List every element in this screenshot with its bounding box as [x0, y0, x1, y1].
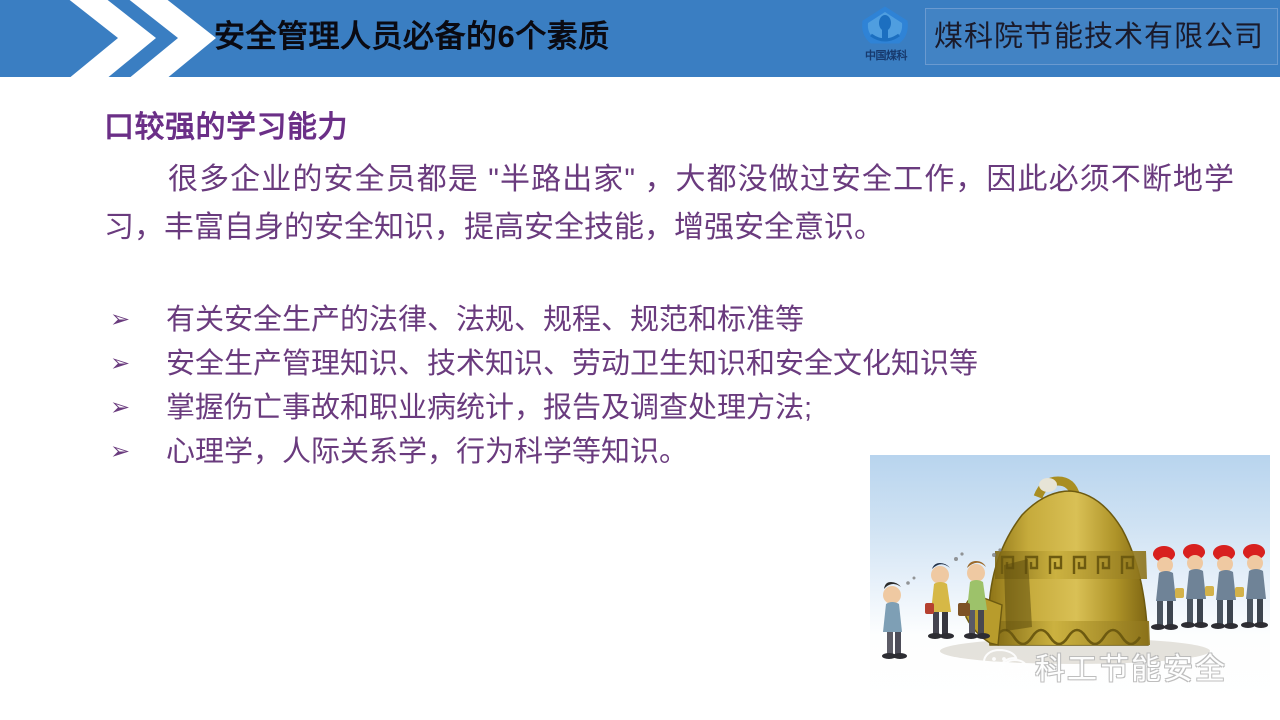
company-name: 煤科院节能技术有限公司	[934, 17, 1264, 57]
page-title: 安全管理人员必备的6个素质	[214, 11, 610, 63]
slide-body: 口较强的学习能力 很多企业的安全员都是 "半路出家" ，大都没做过安全工作，因此…	[0, 77, 1280, 720]
arrow-bullet-icon: ➢	[110, 298, 130, 342]
double-chevron-right-icon	[48, 0, 218, 77]
company-name-box: 煤科院节能技术有限公司	[925, 8, 1278, 65]
list-item: ➢ 有关安全生产的法律、法规、规程、规范和标准等	[104, 298, 1244, 342]
company-logo: 中国煤科	[855, 5, 917, 69]
list-item: ➢ 安全生产管理知识、技术知识、劳动卫生知识和安全文化知识等	[104, 342, 1244, 386]
list-item-label: 有关安全生产的法律、法规、规程、规范和标准等	[166, 304, 804, 336]
watermark: 科工节能安全	[982, 645, 1227, 687]
body-paragraph: 很多企业的安全员都是 "半路出家" ，大都没做过安全工作，因此必须不断地学习，丰…	[104, 156, 1234, 252]
list-item-label: 心理学，人际关系学，行为科学等知识。	[166, 436, 688, 468]
arrow-bullet-icon: ➢	[110, 386, 130, 430]
list-item-label: 安全生产管理知识、技术知识、劳动卫生知识和安全文化知识等	[166, 348, 978, 380]
logo-caption: 中国煤科	[855, 47, 917, 63]
arrow-bullet-icon: ➢	[110, 342, 130, 386]
list-item: ➢ 掌握伤亡事故和职业病统计，报告及调查处理方法;	[104, 386, 1244, 430]
watermark-label: 科工节能安全	[1035, 644, 1227, 688]
bullet-list: ➢ 有关安全生产的法律、法规、规程、规范和标准等 ➢ 安全生产管理知识、技术知识…	[104, 298, 1244, 474]
coal-science-emblem-icon	[859, 5, 911, 47]
header-banner: 安全管理人员必备的6个素质 中国煤科 煤科院节能技术有限公司	[0, 0, 1280, 77]
section-heading: 口较强的学习能力	[104, 102, 348, 146]
arrow-bullet-icon: ➢	[110, 430, 130, 474]
wechat-icon	[982, 647, 1028, 686]
list-item-label: 掌握伤亡事故和职业病统计，报告及调查处理方法;	[166, 392, 812, 424]
